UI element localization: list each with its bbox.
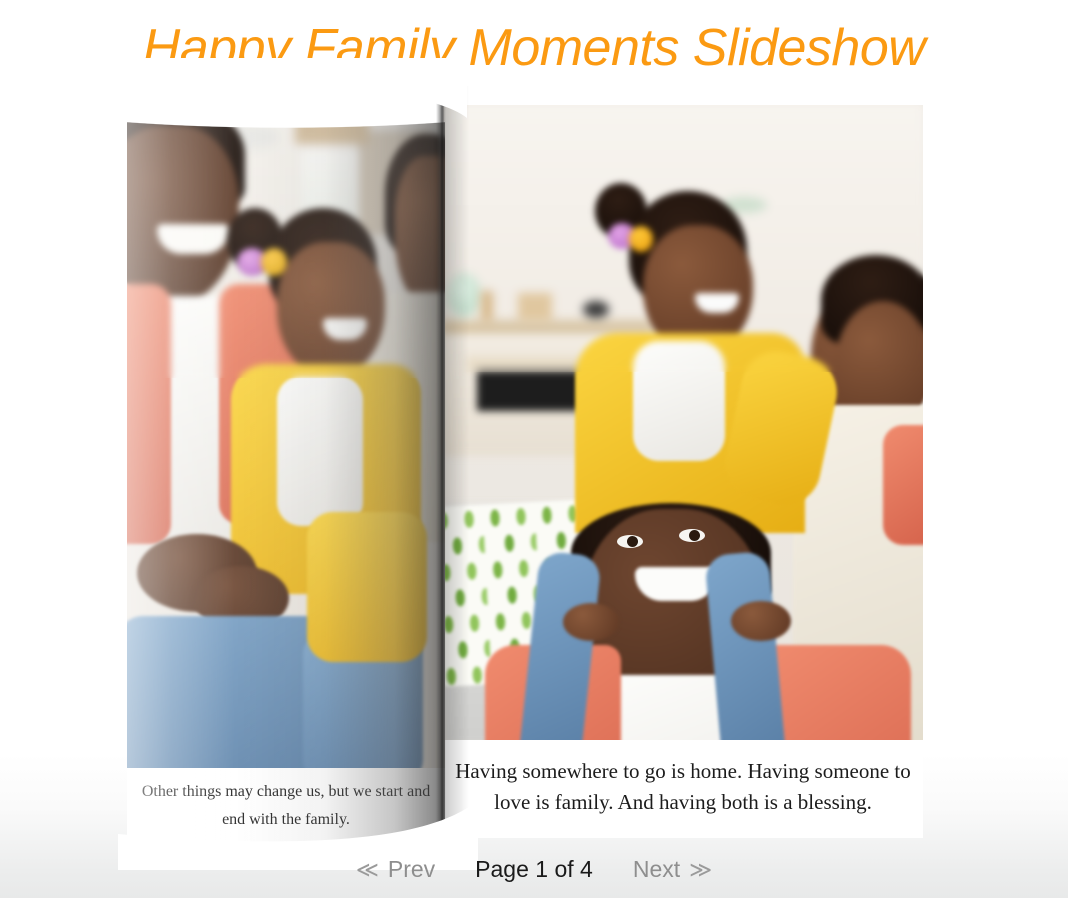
next-page-label: Next [633, 856, 680, 883]
chevron-right-icon: ≫ [689, 859, 712, 881]
slide-photo-left [127, 96, 445, 768]
slide-caption-right: Having somewhere to go is home. Having s… [443, 756, 923, 818]
next-page-button[interactable]: Next ≫ [627, 854, 718, 885]
slideshow-book: Having somewhere to go is home. Having s… [0, 0, 1068, 898]
slide-caption-left: Other things may change us, but we start… [131, 778, 441, 834]
slide-photo-right [443, 105, 923, 740]
prev-page-button[interactable]: ≪ Prev [350, 854, 441, 885]
book-page-left[interactable]: Other things may change us, but we start… [127, 70, 457, 860]
slideshow-navigation: ≪ Prev Page 1 of 4 Next ≫ [0, 854, 1068, 885]
chevron-left-icon: ≪ [356, 859, 379, 881]
book-page-right[interactable]: Having somewhere to go is home. Having s… [443, 78, 923, 838]
page-indicator: Page 1 of 4 [475, 856, 593, 883]
prev-page-label: Prev [388, 856, 435, 883]
